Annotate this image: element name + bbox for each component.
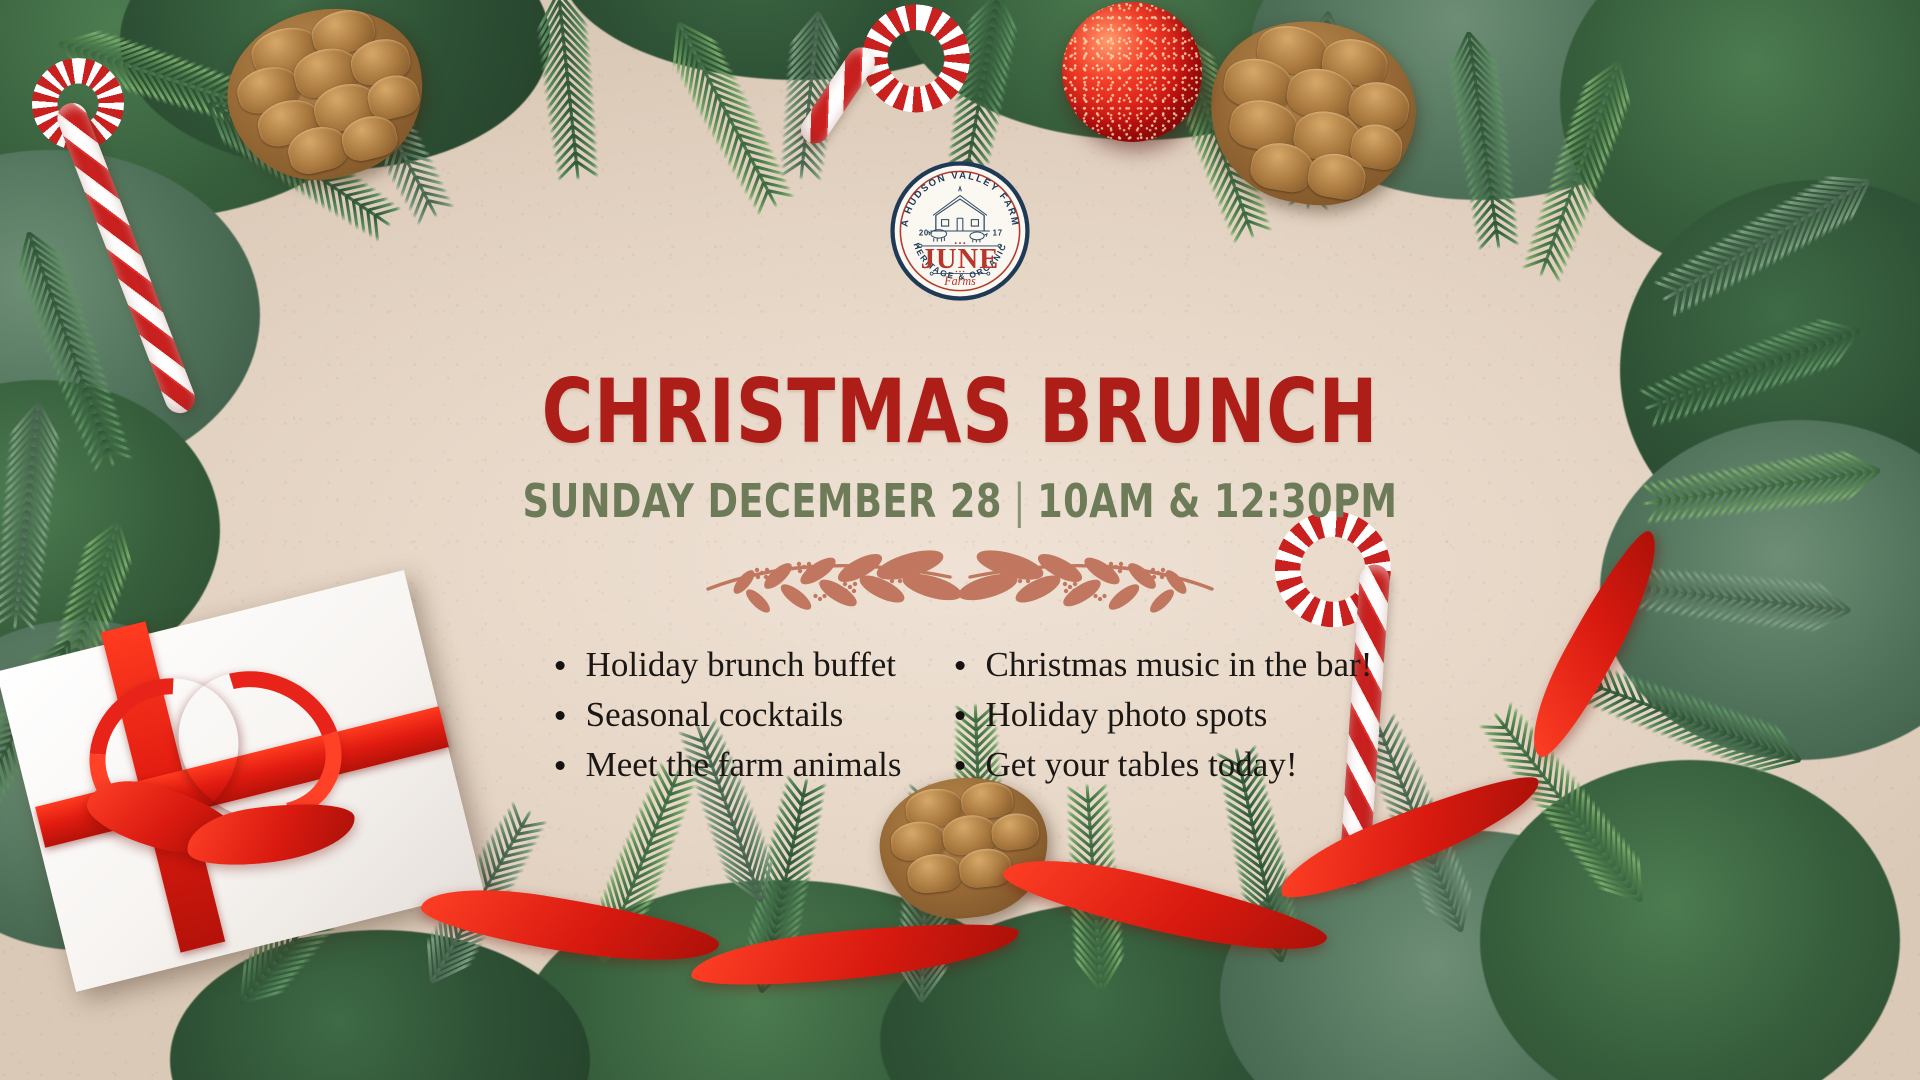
june-farms-logo: A HUDSON VALLEY FARM HERITAGE & ORGANIC	[889, 160, 1031, 302]
feature-item: Holiday brunch buffet	[548, 640, 902, 690]
feature-item-label: Holiday brunch buffet	[586, 645, 896, 684]
divider-branch-right	[956, 545, 1212, 613]
event-date: SUNDAY DECEMBER 28	[523, 474, 1002, 528]
bullet-dot	[955, 711, 964, 720]
feature-item-label: Meet the farm animals	[586, 745, 902, 784]
divider-branch-left	[708, 545, 964, 613]
feature-column-right: Christmas music in the bar!Holiday photo…	[947, 640, 1372, 790]
page-title: CHRISTMAS BRUNCH	[192, 368, 1728, 456]
logo-wordmark: JUNE	[921, 244, 999, 275]
bullet-dot	[556, 711, 565, 720]
feature-item: Seasonal cocktails	[548, 690, 902, 740]
feature-item: Christmas music in the bar!	[947, 640, 1372, 690]
feature-item: Holiday photo spots	[947, 690, 1372, 740]
feature-item-label: Holiday photo spots	[985, 695, 1267, 734]
feature-column-left: Holiday brunch buffetSeasonal cocktailsM…	[548, 640, 902, 790]
feature-item: Meet the farm animals	[548, 740, 902, 790]
feature-list: Holiday brunch buffetSeasonal cocktailsM…	[548, 640, 1373, 790]
datetime-separator: |	[1002, 474, 1037, 528]
feature-item-label: Get your tables today!	[985, 745, 1297, 784]
logo-script-text: Farms	[943, 274, 976, 288]
logo-year-right: 17	[993, 228, 1003, 237]
bullet-dot	[955, 661, 964, 670]
christmas-brunch-poster: A HUDSON VALLEY FARM HERITAGE & ORGANIC	[0, 0, 1920, 1080]
floral-divider	[700, 543, 1220, 613]
feature-item-label: Christmas music in the bar!	[985, 645, 1372, 684]
feature-item-label: Seasonal cocktails	[586, 695, 844, 734]
event-times: 10AM & 12:30PM	[1037, 474, 1397, 528]
bullet-dot	[955, 761, 964, 770]
bullet-dot	[556, 661, 565, 670]
bullet-dot	[556, 761, 565, 770]
feature-item: Get your tables today!	[947, 740, 1372, 790]
event-datetime: SUNDAY DECEMBER 28|10AM & 12:30PM	[192, 478, 1728, 524]
logo-year-left: 20	[919, 228, 929, 237]
